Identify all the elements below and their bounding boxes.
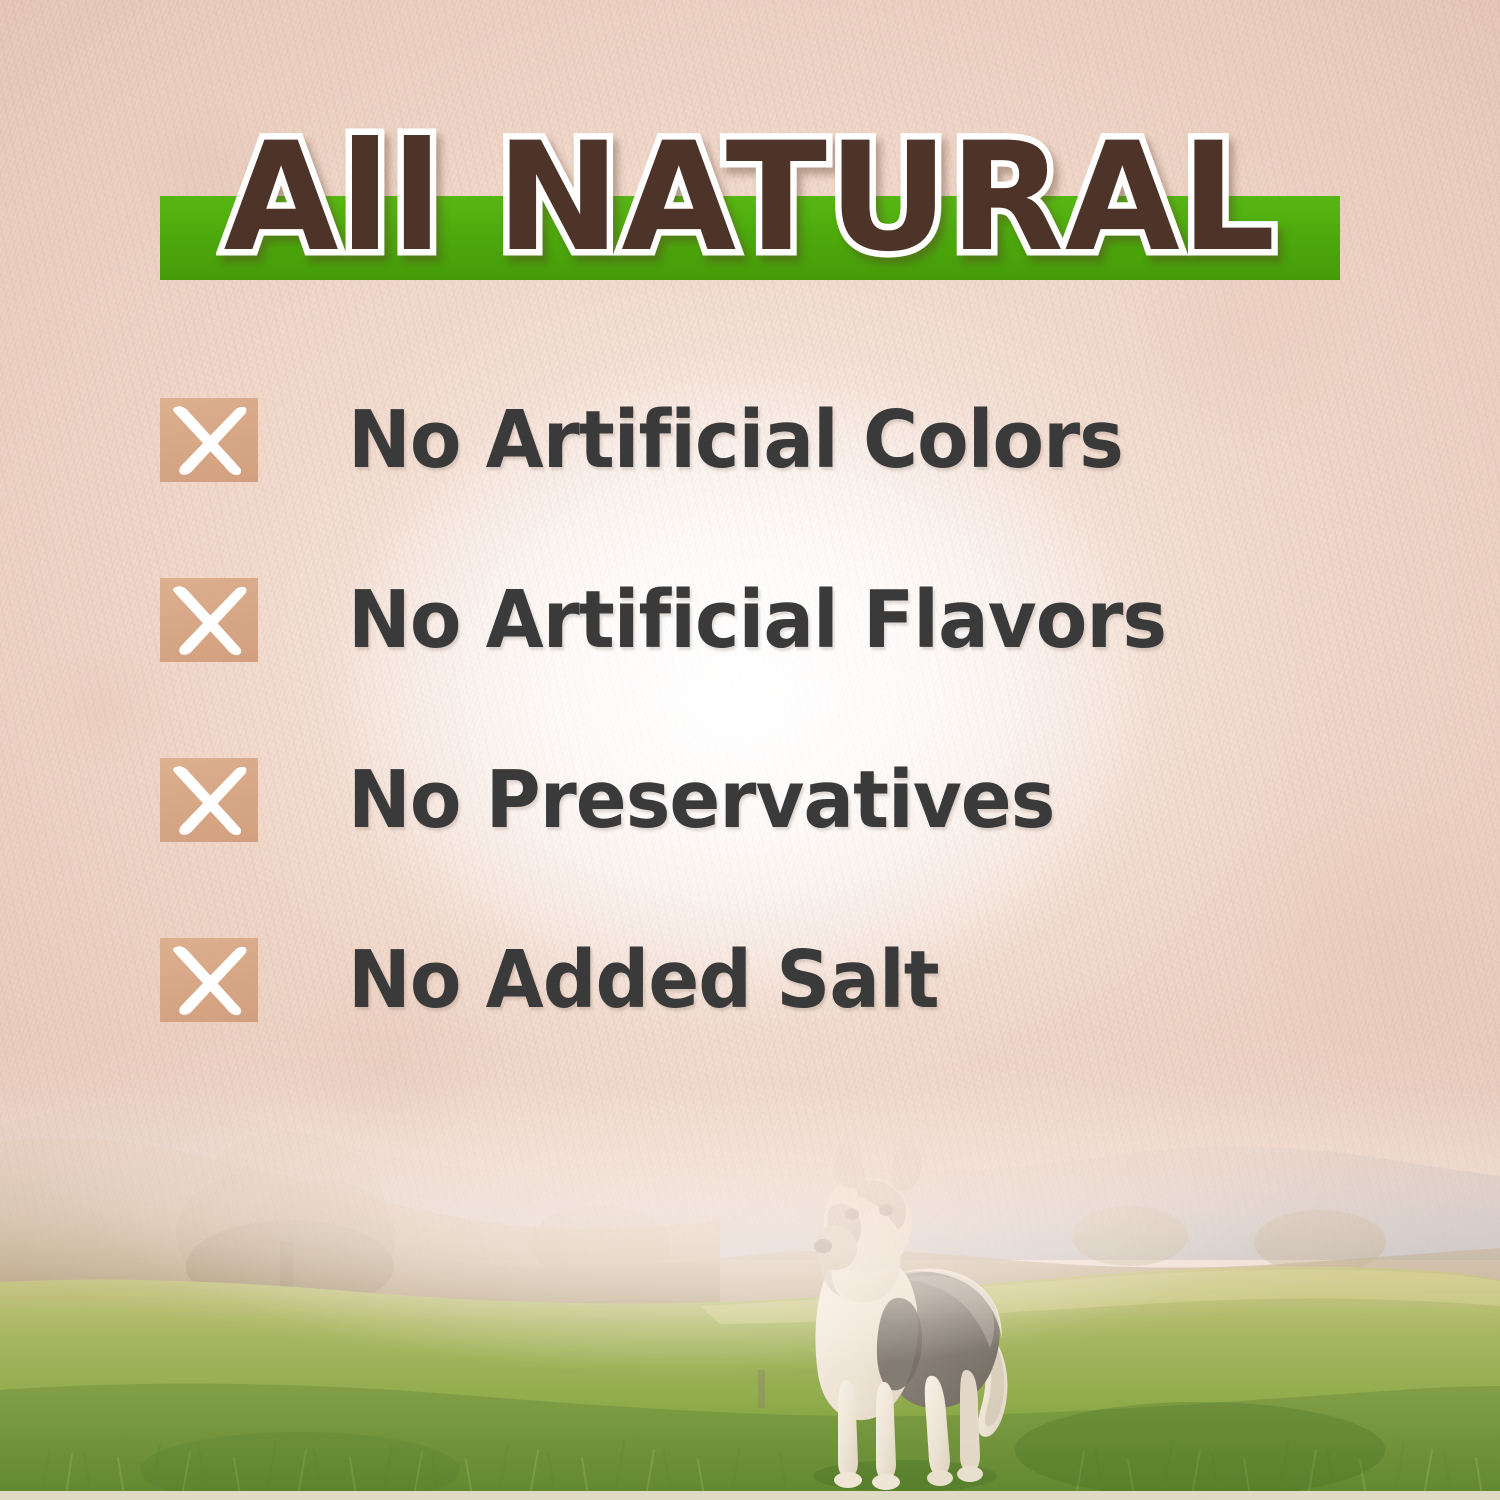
list-item: No Preservatives xyxy=(160,752,1360,932)
headline-banner: All NATURAL xyxy=(0,118,1500,303)
page-title: All NATURAL xyxy=(8,118,1493,278)
x-mark-icon xyxy=(160,398,258,482)
list-item-label: No Preservatives xyxy=(348,752,1054,848)
x-mark-icon xyxy=(160,938,258,1022)
checkbox-tile xyxy=(160,578,258,662)
x-mark-icon xyxy=(160,578,258,662)
list-item-label: No Added Salt xyxy=(348,932,939,1028)
claims-checklist: No Artificial Colors No Artificial Flavo… xyxy=(160,392,1360,1112)
list-item-label: No Artificial Flavors xyxy=(348,572,1166,668)
bottom-edge-strip xyxy=(0,1491,1500,1500)
all-natural-poster: All NATURAL No Artificial Colors xyxy=(0,0,1500,1500)
list-item-label: No Artificial Colors xyxy=(348,392,1123,488)
list-item: No Artificial Colors xyxy=(160,392,1360,572)
x-mark-icon xyxy=(160,758,258,842)
checkbox-tile xyxy=(160,398,258,482)
dog-field-photo xyxy=(0,1030,1500,1500)
checkbox-tile xyxy=(160,938,258,1022)
list-item: No Artificial Flavors xyxy=(160,572,1360,752)
checkbox-tile xyxy=(160,758,258,842)
